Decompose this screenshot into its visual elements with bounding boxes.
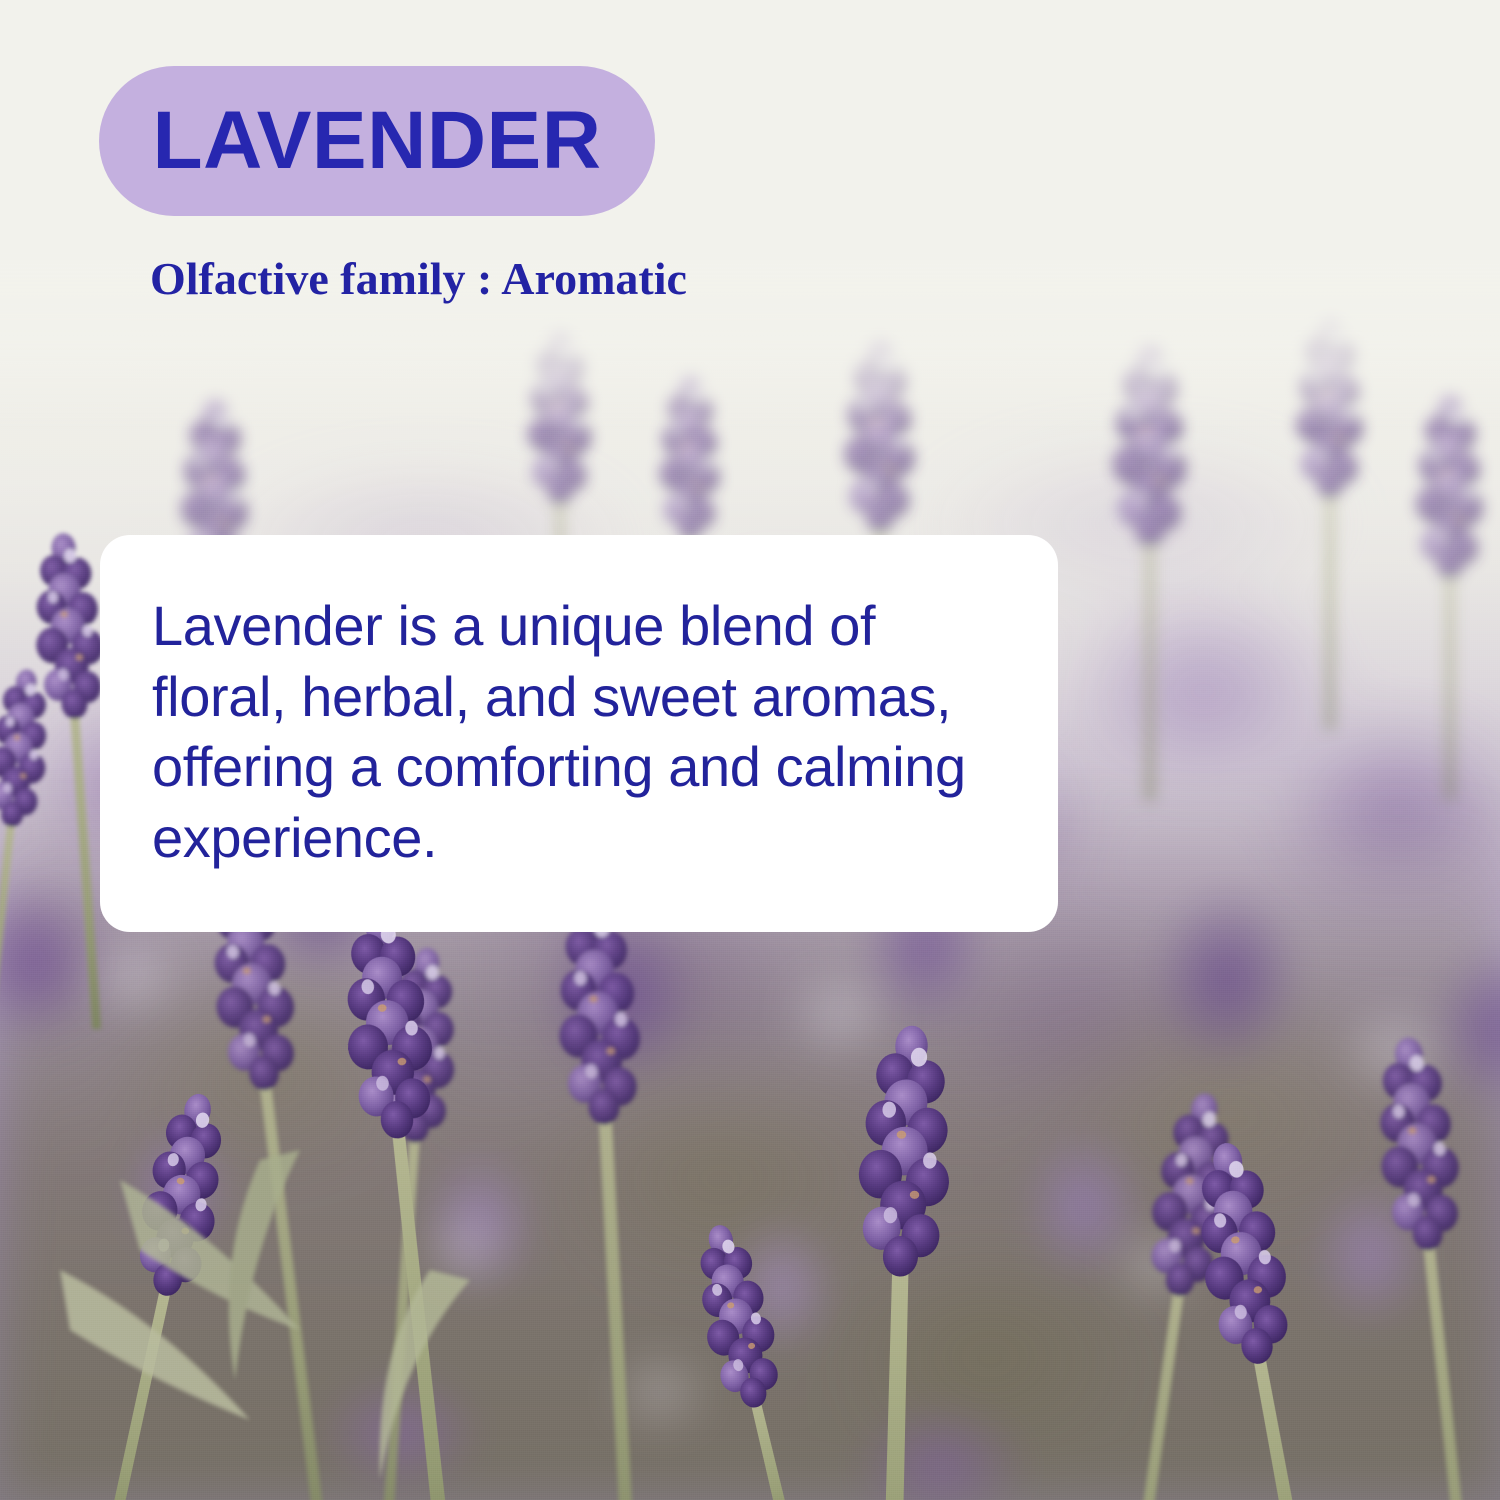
olfactive-family-subtitle: Olfactive family : Aromatic [150, 252, 687, 305]
title-badge: LAVENDER [99, 66, 655, 216]
description-text: Lavender is a unique blend of floral, he… [152, 591, 998, 873]
description-card: Lavender is a unique blend of floral, he… [100, 535, 1058, 932]
page-title: LAVENDER [153, 100, 602, 182]
product-info-graphic: LAVENDER Olfactive family : Aromatic Lav… [0, 0, 1500, 1500]
